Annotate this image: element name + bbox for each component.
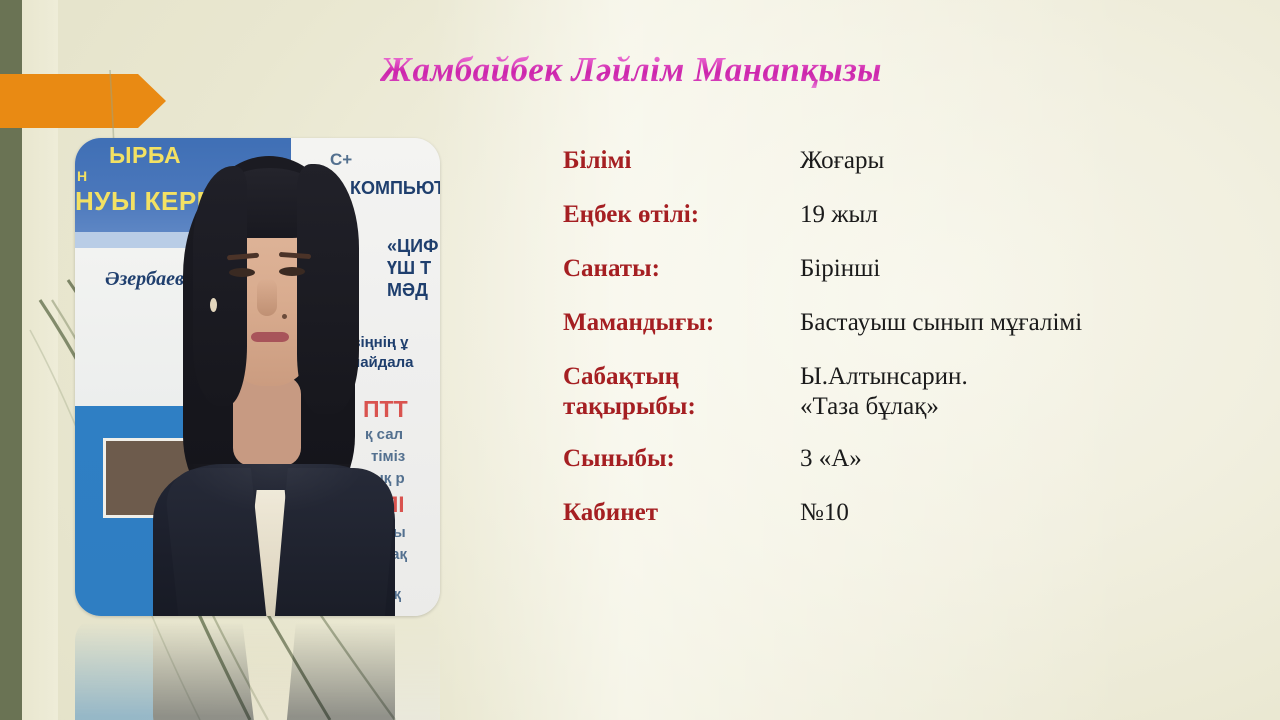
- table-row: Білімі Жоғары: [563, 146, 1203, 176]
- info-table: Білімі Жоғары Еңбек өтілі: 19 жыл Санаты…: [563, 146, 1203, 552]
- row-value: №10: [800, 498, 849, 528]
- portrait-photo: ЫРБА Н НУЫ КЕРЕК Әзербаев» С+ КОМПЬЮТЕР …: [75, 138, 440, 616]
- row-label: Мамандығы:: [563, 308, 800, 338]
- row-label: Кабинет: [563, 498, 800, 528]
- table-row: Кабинет №10: [563, 498, 1203, 528]
- row-value: 3 «А»: [800, 444, 862, 474]
- table-row: Сабақтың тақырыбы: Ы.Алтынсарин. «Таза б…: [563, 362, 1203, 422]
- hair-front-right: [297, 164, 359, 414]
- row-label: Білімі: [563, 146, 800, 176]
- row-label: Сыныбы:: [563, 444, 800, 474]
- row-value: 19 жыл: [800, 200, 878, 230]
- row-value: Бастауыш сынып мұғалімі: [800, 308, 1082, 338]
- row-value: Жоғары: [800, 146, 884, 176]
- eye-right: [279, 267, 305, 276]
- row-label: Сабақтың тақырыбы:: [563, 362, 800, 422]
- shoulder-shading: [153, 464, 395, 616]
- mouth: [251, 332, 289, 342]
- person-figure: [75, 138, 440, 616]
- nose: [257, 278, 277, 316]
- earring: [210, 298, 217, 312]
- table-row: Санаты: Бірінші: [563, 254, 1203, 284]
- row-label: Санаты:: [563, 254, 800, 284]
- row-value: Бірінші: [800, 254, 880, 284]
- portrait-reflection: БІЛІ: [75, 618, 440, 720]
- page-title: Жамбайбек Ләйлім Манапқызы: [380, 50, 1020, 90]
- table-row: Еңбек өтілі: 19 жыл: [563, 200, 1203, 230]
- neck: [233, 376, 301, 466]
- row-value: Ы.Алтынсарин. «Таза бұлақ»: [800, 362, 968, 422]
- orange-arrow-banner: [0, 74, 166, 128]
- portrait-reflection-inner: БІЛІ: [75, 618, 440, 720]
- eye-left: [229, 268, 255, 277]
- table-row: Мамандығы: Бастауыш сынып мұғалімі: [563, 308, 1203, 338]
- row-label: Еңбек өтілі:: [563, 200, 800, 230]
- slide-canvas: Жамбайбек Ләйлім Манапқызы ЫРБА Н НУЫ КЕ…: [0, 0, 1280, 720]
- mole: [282, 314, 287, 319]
- portrait-photo-image: ЫРБА Н НУЫ КЕРЕК Әзербаев» С+ КОМПЬЮТЕР …: [75, 138, 440, 616]
- table-row: Сыныбы: 3 «А»: [563, 444, 1203, 474]
- refl-banner-text: БІЛІ: [361, 716, 404, 720]
- hair-front-left: [193, 166, 247, 406]
